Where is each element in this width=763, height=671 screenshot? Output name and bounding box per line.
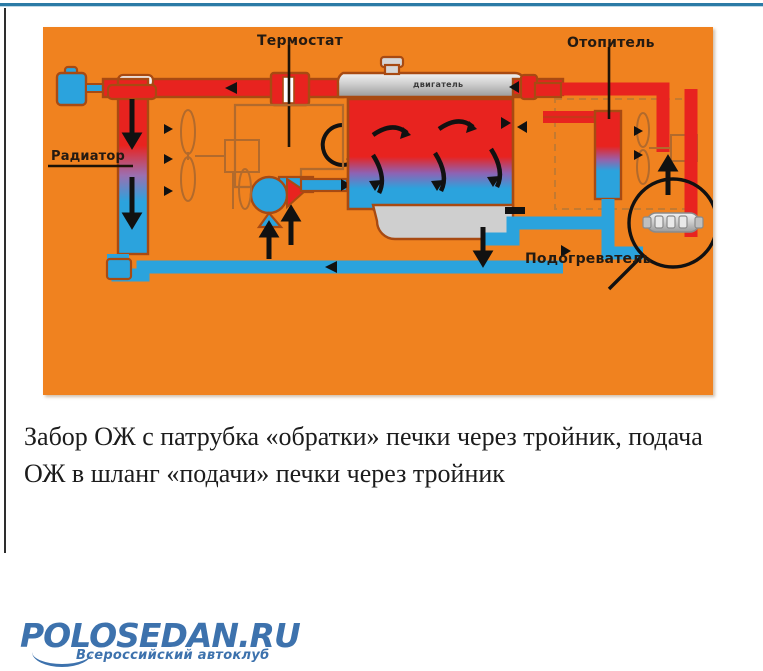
right-riser-arrow	[662, 159, 674, 195]
label-heater: Отопитель	[567, 35, 655, 51]
left-margin-rule	[4, 8, 6, 553]
top-divider-rule-secondary	[0, 6, 763, 7]
label-engine: двигатель	[413, 80, 463, 89]
logo-tagline: Всероссийский автоклуб	[76, 648, 270, 663]
cooling-system-diagram: Термостат Отопитель Радиатор Подогревате…	[43, 27, 713, 395]
label-thermostat: Термостат	[257, 33, 343, 49]
page-root: Термостат Отопитель Радиатор Подогревате…	[0, 0, 763, 671]
site-logo[interactable]: POLOSEDAN.RU Всероссийский автоклуб	[14, 616, 314, 668]
figure-caption: Забор ОЖ с патрубка «обратки» печки чере…	[24, 418, 739, 492]
radiator-airflow-arrows	[151, 124, 173, 196]
heater-core	[595, 111, 621, 199]
preheater-device	[643, 213, 703, 232]
label-radiator: Радиатор	[51, 149, 125, 164]
expansion-tank	[57, 67, 108, 105]
label-preheater: Подогреватель	[525, 251, 652, 267]
diagram-svg	[43, 27, 713, 395]
